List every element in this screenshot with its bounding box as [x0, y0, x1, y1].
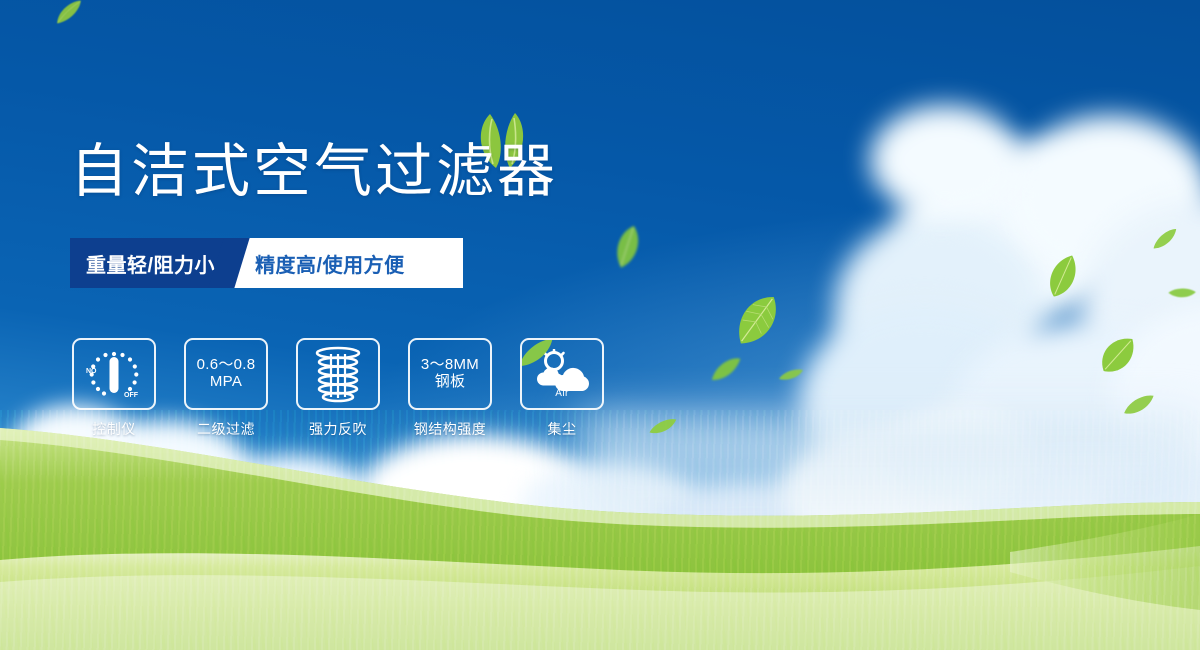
feature-list: NO OFF 控制仪 0.6～0.8 MPA 二级过滤 [72, 338, 604, 439]
steel-plate-text-icon: 3～8MM 钢板 [421, 357, 479, 391]
subtitle-tag-bar: 重量轻/阻力小 精度高/使用方便 [70, 238, 463, 288]
dial-off-label: OFF [124, 392, 139, 399]
feature-label: 钢结构强度 [414, 419, 487, 439]
control-dial-tile: NO OFF [72, 338, 156, 410]
feature-label: 二级过滤 [197, 419, 255, 439]
product-banner: 自洁式空气过滤器 重量轻/阻力小 精度高/使用方便 [0, 0, 1200, 650]
feature-item-steel[interactable]: 3～8MM 钢板 钢结构强度 [408, 338, 492, 439]
feature-item-dust[interactable]: Air 集尘 [520, 338, 604, 439]
feature-label: 控制仪 [92, 419, 136, 439]
grass-field [0, 410, 1200, 650]
cloud-air-icon [533, 349, 591, 391]
steel-plate-tile: 3～8MM 钢板 [408, 338, 492, 410]
page-title: 自洁式空气过滤器 [70, 143, 558, 201]
cloud-air-tile: Air [520, 338, 604, 410]
tag-right: 精度高/使用方便 [229, 238, 463, 288]
tag-left: 重量轻/阻力小 [70, 238, 229, 288]
air-label: Air [555, 388, 568, 399]
feature-item-control[interactable]: NO OFF 控制仪 [72, 338, 156, 439]
feature-label: 集尘 [548, 419, 577, 439]
dial-on-label: NO [86, 368, 97, 375]
pressure-tile: 0.6～0.8 MPA [184, 338, 268, 410]
feature-item-pressure[interactable]: 0.6～0.8 MPA 二级过滤 [184, 338, 268, 439]
tag-right-label: 精度高/使用方便 [255, 249, 405, 278]
control-dial-icon: NO OFF [83, 345, 145, 403]
filter-cartridge-tile [296, 338, 380, 410]
feature-label: 强力反吹 [309, 419, 367, 439]
filter-cartridge-icon [310, 345, 366, 403]
tag-left-label: 重量轻/阻力小 [86, 249, 215, 278]
pressure-text-icon: 0.6～0.8 MPA [197, 357, 256, 391]
feature-item-blowback[interactable]: 强力反吹 [296, 338, 380, 439]
